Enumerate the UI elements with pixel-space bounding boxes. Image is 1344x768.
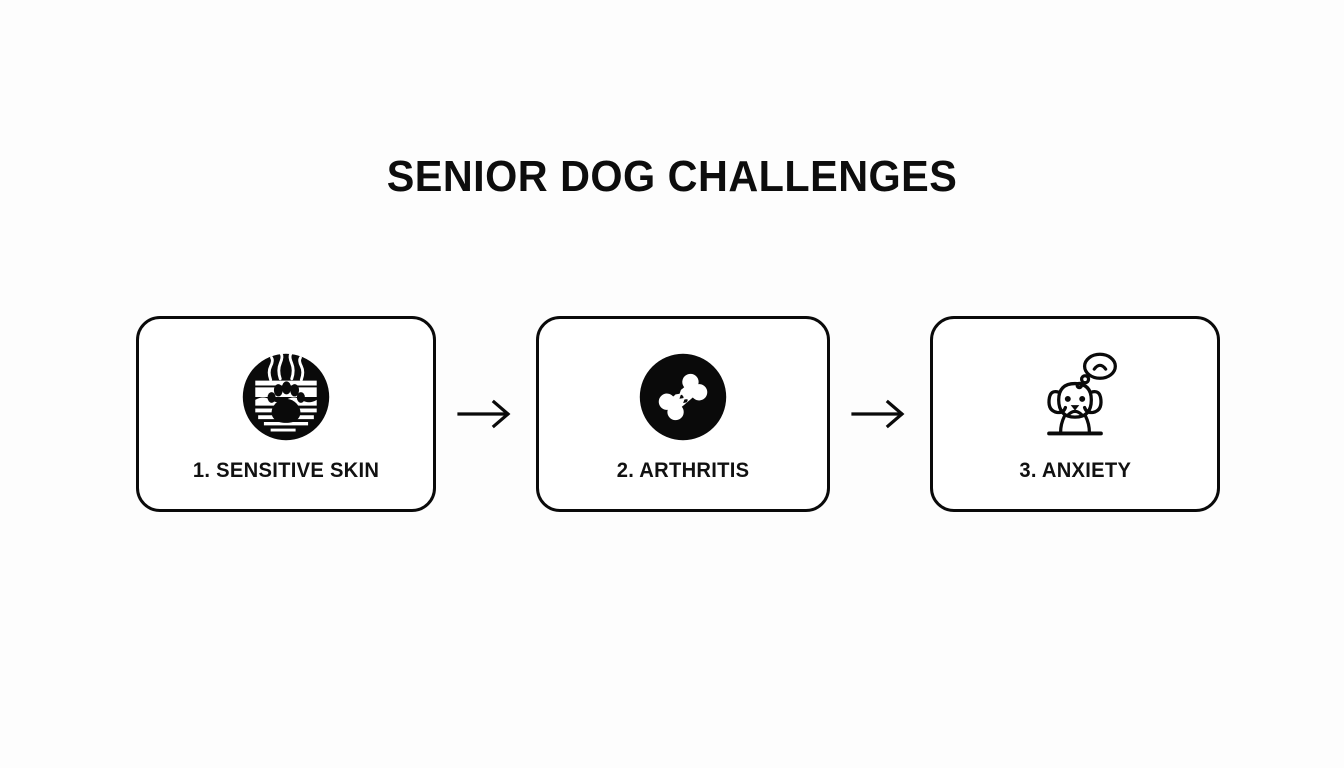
anxious-dog-thought-bubble-icon [1027, 349, 1123, 445]
arrow-right-icon [849, 394, 911, 434]
irritated-paw-skin-icon [238, 349, 334, 445]
broken-bone-icon [635, 349, 731, 445]
step-card-anxiety[interactable]: 3. ANXIETY [930, 316, 1220, 512]
page-title: SENIOR DOG CHALLENGES [40, 152, 1303, 202]
slide-canvas: SENIOR DOG CHALLENGES [0, 0, 1344, 768]
step-card-label: 1. SENSITIVE SKIN [193, 459, 379, 483]
step-card-label: 3. ANXIETY [1019, 459, 1131, 483]
arrow-right-icon [455, 394, 517, 434]
process-flow: 1. SENSITIVE SKIN [136, 316, 1220, 512]
step-card-sensitive-skin[interactable]: 1. SENSITIVE SKIN [136, 316, 436, 512]
step-card-label: 2. ARTHRITIS [617, 459, 750, 483]
step-card-arthritis[interactable]: 2. ARTHRITIS [536, 316, 830, 512]
